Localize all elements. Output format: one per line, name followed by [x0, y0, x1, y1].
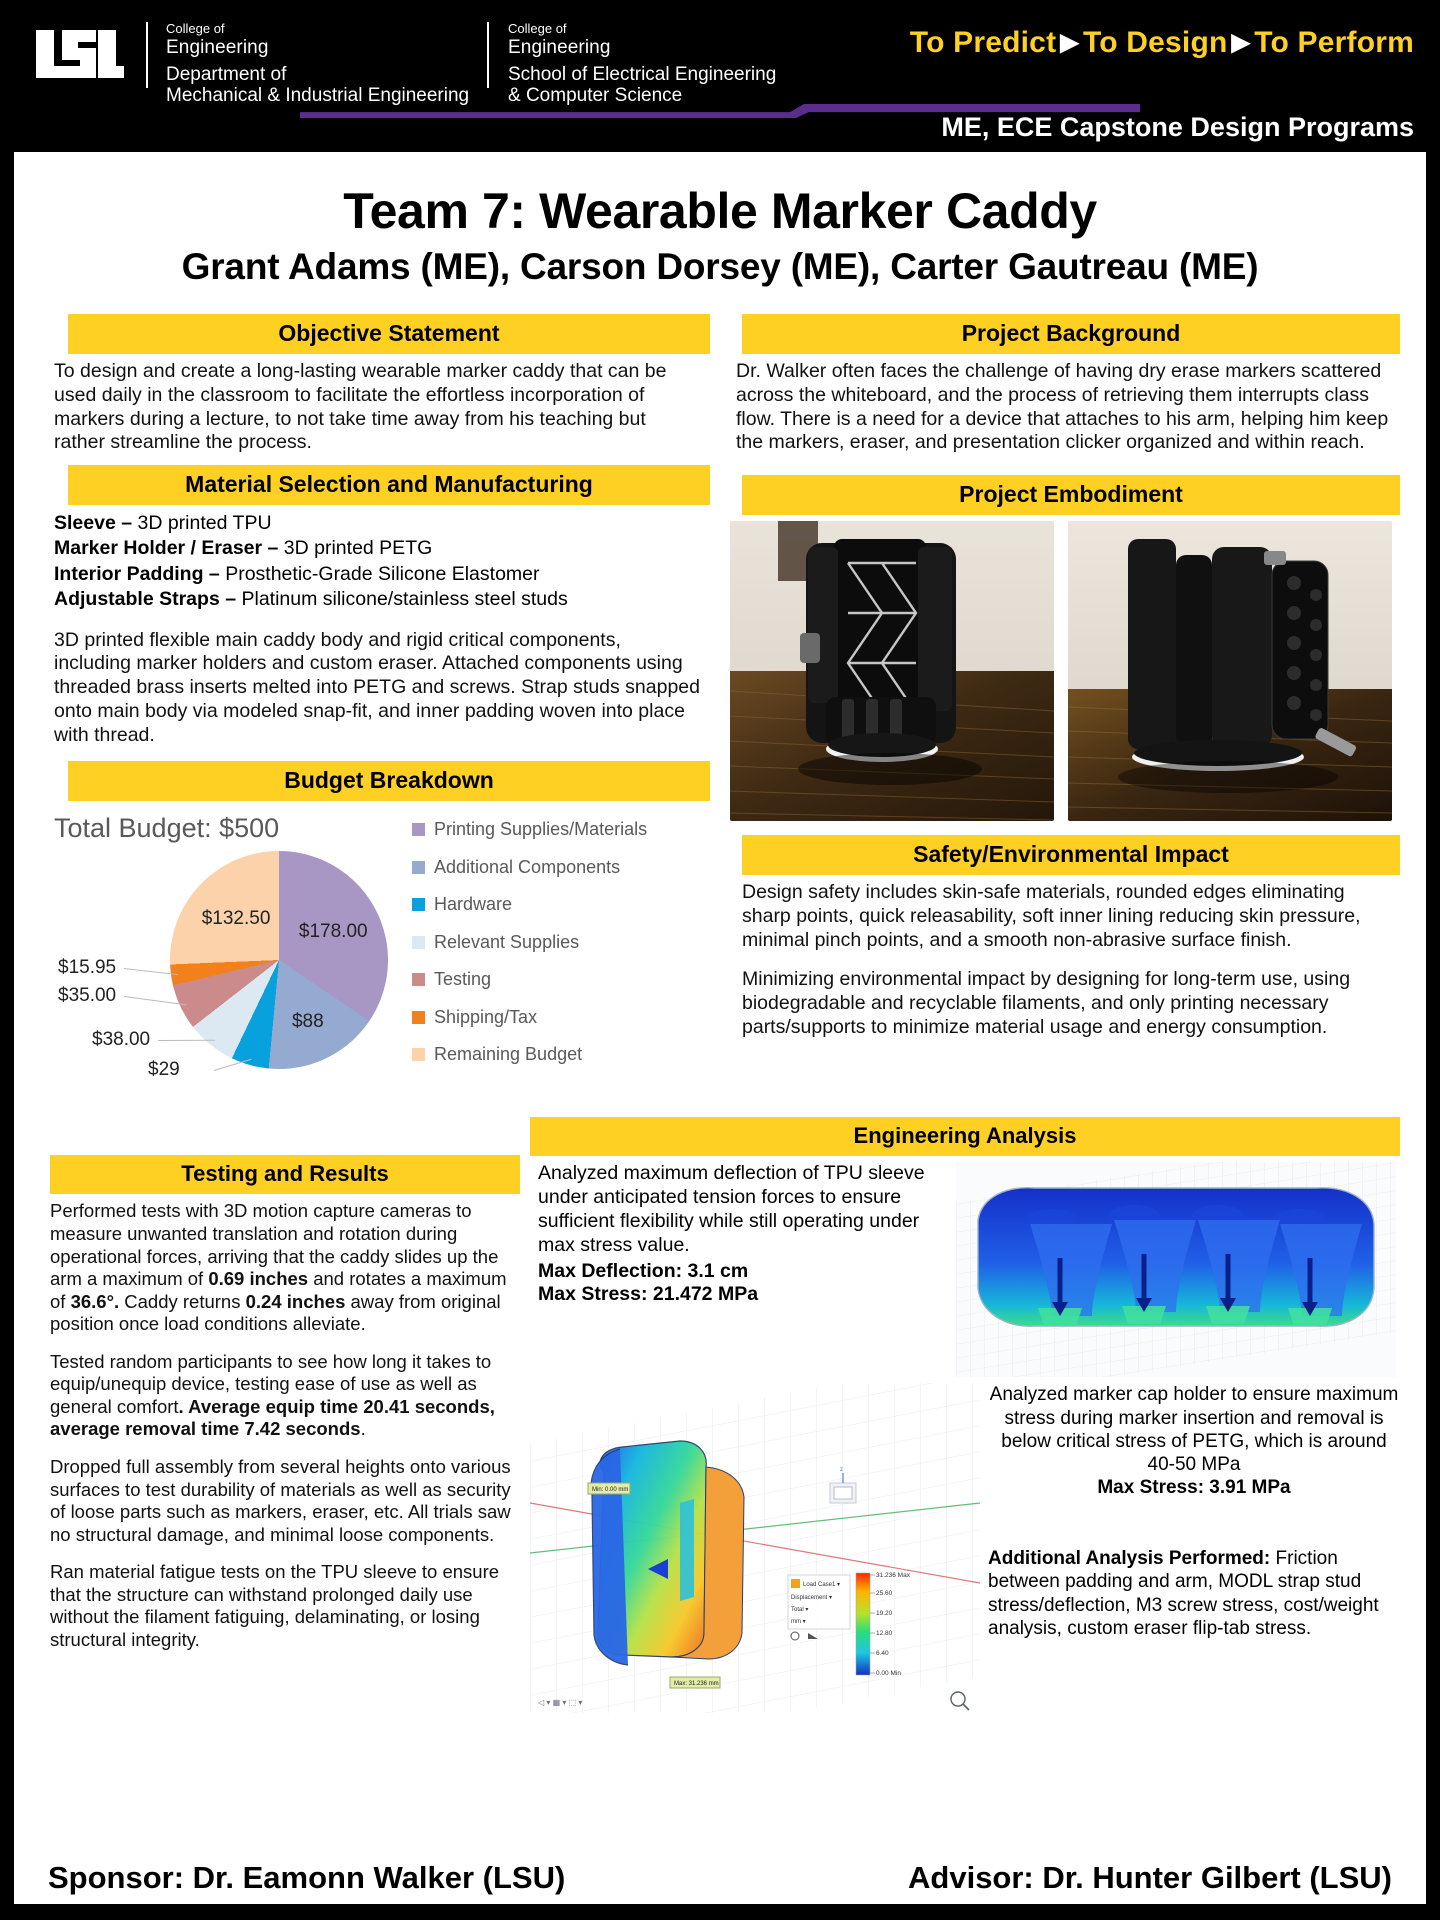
legend-color-swatch: [412, 1048, 425, 1061]
page-title: Team 7: Wearable Marker Caddy: [14, 182, 1426, 240]
section-header-safety: Safety/Environmental Impact: [742, 835, 1400, 875]
pie-leader-line: [214, 1059, 252, 1071]
background-body: Dr. Walker often faces the challenge of …: [722, 360, 1400, 455]
dept1-engineering: Engineering: [166, 37, 469, 58]
pie-slice-label: $132.50: [202, 908, 270, 930]
svg-text:Load Case1 ▾: Load Case1 ▾: [803, 1582, 840, 1588]
left-column: Objective Statement To design and create…: [40, 314, 710, 1107]
legend-label: Remaining Budget: [434, 1044, 582, 1065]
logo-divider-2: [487, 22, 489, 88]
legend-item: Printing Supplies/Materials: [412, 819, 647, 840]
advisor-label: Advisor: Dr. Hunter Gilbert (LSU): [908, 1860, 1392, 1896]
dept1-college: College of: [166, 22, 469, 37]
material-value: 3D printed PETG: [278, 537, 432, 559]
legend-label: Relevant Supplies: [434, 932, 579, 953]
right-column: Project Background Dr. Walker often face…: [722, 314, 1400, 1107]
testing-p1-d: 36.6°.: [71, 1291, 120, 1312]
section-header-objective: Objective Statement: [68, 314, 710, 354]
chart-legend: Printing Supplies/MaterialsAdditional Co…: [412, 819, 647, 1082]
material-key: Sleeve –: [54, 512, 132, 534]
max-stress-value: Max Stress: 21.472 MPa: [538, 1283, 950, 1307]
svg-text:Min: 0.00 mm: Min: 0.00 mm: [592, 1487, 628, 1493]
section-header-embodiment: Project Embodiment: [742, 475, 1400, 515]
testing-paragraph-2: Tested random participants to see how lo…: [40, 1351, 520, 1441]
legend-color-swatch: [412, 823, 425, 836]
embodiment-photos: [722, 521, 1400, 821]
section-header-engineering: Engineering Analysis: [530, 1117, 1400, 1156]
engineering-text-block-2: Analyzed marker cap holder to ensure max…: [980, 1383, 1400, 1713]
svg-text:19.20: 19.20: [876, 1610, 893, 1617]
tagline: To Predict▶To Design▶To Perform: [910, 26, 1414, 60]
legend-item: Additional Components: [412, 857, 647, 878]
material-body: 3D printed flexible main caddy body and …: [40, 629, 710, 748]
engineering-text-block-1: Analyzed maximum deflection of TPU sleev…: [530, 1162, 950, 1377]
product-photo-side: [1068, 521, 1392, 821]
total-budget-label: Total Budget: $500: [54, 813, 279, 844]
dept2-college: College of: [508, 22, 776, 37]
pie-chart: [170, 851, 388, 1069]
section-header-material: Material Selection and Manufacturing: [68, 465, 710, 505]
material-value: Platinum silicone/stainless steel studs: [236, 588, 568, 610]
max-deflection-value: Max Deflection: 3.1 cm: [538, 1260, 950, 1284]
legend-color-swatch: [412, 861, 425, 874]
budget-chart: Total Budget: $500 $178.00$88$29$38.00$3…: [40, 807, 710, 1107]
svg-text:0.00 Min: 0.00 Min: [876, 1670, 901, 1677]
product-photo-front: [730, 521, 1054, 821]
testing-p1-e: Caddy returns: [119, 1291, 245, 1312]
legend-color-swatch: [412, 1011, 425, 1024]
objective-body: To design and create a long-lasting wear…: [40, 360, 710, 455]
material-value: 3D printed TPU: [132, 512, 271, 534]
legend-item: Shipping/Tax: [412, 1007, 647, 1028]
dept-block-mie: College of Engineering Department of Mec…: [166, 22, 469, 106]
pie-slice-label: $29: [148, 1059, 180, 1081]
material-value: Prosthetic-Grade Silicone Elastomer: [220, 563, 540, 585]
svg-text:Max: 31.236 mm: Max: 31.236 mm: [674, 1681, 719, 1687]
dept-block-eecs: College of Engineering School of Electri…: [508, 22, 776, 106]
testing-paragraph-1: Performed tests with 3D motion capture c…: [40, 1200, 520, 1335]
svg-text:mm ▾: mm ▾: [791, 1619, 806, 1625]
additional-analysis-label: Additional Analysis Performed:: [988, 1548, 1270, 1569]
legend-label: Additional Components: [434, 857, 620, 878]
fea-image-holder: Min: 1.77E-04 MPa Max: 3.919 MPa Load Ca…: [956, 1162, 1396, 1377]
material-key: Adjustable Straps –: [54, 588, 236, 610]
dept2-engineering: Engineering: [508, 37, 776, 58]
capstone-subbanner: ME, ECE Capstone Design Programs: [941, 112, 1414, 143]
legend-item: Testing: [412, 969, 647, 990]
legend-item: Remaining Budget: [412, 1044, 647, 1065]
legend-color-swatch: [412, 973, 425, 986]
material-list: Sleeve – 3D printed TPU Marker Holder / …: [40, 511, 710, 612]
legend-color-swatch: [412, 898, 425, 911]
svg-text:Displacement ▾: Displacement ▾: [791, 1595, 832, 1601]
section-header-background: Project Background: [742, 314, 1400, 354]
tagline-predict: To Predict: [910, 26, 1056, 59]
pie-slice-label: $38.00: [92, 1029, 150, 1051]
svg-text:31.236 Max: 31.236 Max: [876, 1572, 911, 1579]
safety-body-1: Design safety includes skin-safe materia…: [722, 881, 1400, 952]
lower-section: Testing and Results Performed tests with…: [14, 1117, 1426, 1713]
poster-root: College of Engineering Department of Mec…: [0, 0, 1440, 1920]
material-item: Interior Padding – Prosthetic-Grade Sili…: [54, 562, 710, 587]
svg-text:6.40: 6.40: [876, 1650, 889, 1657]
section-header-testing: Testing and Results: [50, 1155, 520, 1194]
sponsor-label: Sponsor: Dr. Eamonn Walker (LSU): [48, 1860, 565, 1896]
dept1-line1: Department of: [166, 64, 469, 85]
testing-p1-b: 0.69 inches: [208, 1268, 308, 1289]
engineering-text-1: Analyzed maximum deflection of TPU sleev…: [538, 1162, 950, 1257]
pie-slice-label: $88: [274, 1011, 342, 1033]
legend-label: Hardware: [434, 894, 512, 915]
tagline-perform: To Perform: [1254, 26, 1414, 59]
engineering-column: Engineering Analysis Analyzed maximum de…: [530, 1117, 1400, 1713]
svg-text:◁ ▾ ▦ ▾ ⬚ ▾: ◁ ▾ ▦ ▾ ⬚ ▾: [538, 1698, 582, 1707]
poster-footer: Sponsor: Dr. Eamonn Walker (LSU) Advisor…: [14, 1860, 1426, 1896]
testing-paragraph-3: Dropped full assembly from several heigh…: [40, 1456, 520, 1546]
testing-p1-f: 0.24 inches: [246, 1291, 346, 1312]
legend-label: Shipping/Tax: [434, 1007, 537, 1028]
material-key: Marker Holder / Eraser –: [54, 537, 278, 559]
lsu-logo: [32, 26, 128, 82]
svg-text:Total ▾: Total ▾: [791, 1607, 808, 1613]
poster-header: College of Engineering Department of Mec…: [0, 0, 1440, 120]
legend-label: Printing Supplies/Materials: [434, 819, 647, 840]
legend-label: Testing: [434, 969, 491, 990]
testing-p2-c: .: [361, 1418, 366, 1439]
arrow-right-icon-2: ▶: [1232, 29, 1251, 56]
material-item: Adjustable Straps – Platinum silicone/st…: [54, 587, 710, 612]
fea-image-sleeve: Min: 0.00 mm Max: 31.236 mm Load Case1 ▾…: [530, 1383, 980, 1713]
material-item: Marker Holder / Eraser – 3D printed PETG: [54, 536, 710, 561]
material-key: Interior Padding –: [54, 563, 220, 585]
svg-text:25.60: 25.60: [876, 1590, 893, 1597]
author-list: Grant Adams (ME), Carson Dorsey (ME), Ca…: [14, 246, 1426, 288]
engineering-text-2: Analyzed marker cap holder to ensure max…: [988, 1383, 1400, 1476]
legend-color-swatch: [412, 936, 425, 949]
legend-item: Hardware: [412, 894, 647, 915]
arrow-right-icon-1: ▶: [1060, 29, 1079, 56]
svg-text:z: z: [840, 1467, 843, 1473]
top-columns: Objective Statement To design and create…: [14, 314, 1426, 1107]
logo-divider-1: [146, 22, 148, 88]
additional-analysis: Additional Analysis Performed: Friction …: [988, 1547, 1400, 1640]
pie-slice-label: $178.00: [299, 921, 367, 943]
max-stress-value-2: Max Stress: 3.91 MPa: [988, 1476, 1400, 1499]
pie-slice-label: $35.00: [58, 985, 116, 1007]
section-header-budget: Budget Breakdown: [68, 761, 710, 801]
svg-text:12.80: 12.80: [876, 1630, 893, 1637]
pie-slice-label: $15.95: [58, 957, 116, 979]
safety-body-2: Minimizing environmental impact by desig…: [722, 968, 1400, 1039]
tagline-design: To Design: [1083, 26, 1228, 59]
testing-column: Testing and Results Performed tests with…: [40, 1117, 520, 1713]
poster-body: Team 7: Wearable Marker Caddy Grant Adam…: [14, 152, 1426, 1904]
dept2-line1: School of Electrical Engineering: [508, 64, 776, 85]
testing-paragraph-4: Ran material fatigue tests on the TPU sl…: [40, 1561, 520, 1651]
legend-item: Relevant Supplies: [412, 932, 647, 953]
engineering-top-row: Analyzed maximum deflection of TPU sleev…: [530, 1162, 1400, 1377]
engineering-bottom-row: Min: 0.00 mm Max: 31.236 mm Load Case1 ▾…: [530, 1383, 1400, 1713]
material-item: Sleeve – 3D printed TPU: [54, 511, 710, 536]
